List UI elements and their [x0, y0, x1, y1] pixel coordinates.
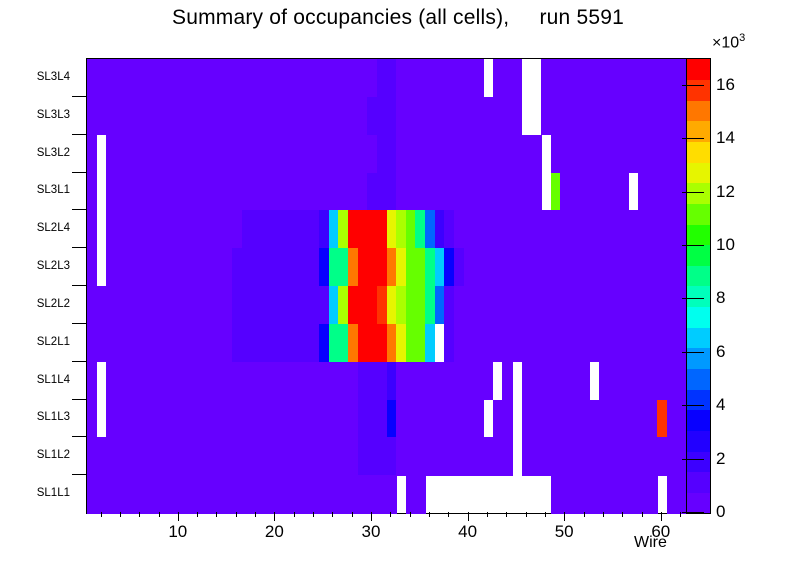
- colorbar-exponent: ×103: [712, 32, 745, 52]
- y-axis: SL3L4SL3L3SL3L2SL3L1SL2L4SL2L3SL2L2SL2L1…: [0, 58, 86, 512]
- y-axis-label: SL3L4: [37, 71, 70, 83]
- colorbar-tick: [682, 405, 704, 406]
- x-axis-tick: [429, 512, 430, 517]
- colorbar-tick-label: 12: [716, 182, 735, 202]
- colorbar-ticks: 0246810121416: [686, 58, 726, 512]
- y-axis-label: SL3L2: [37, 147, 70, 159]
- colorbar-tick-label: 16: [716, 75, 735, 95]
- x-axis-tick: [294, 512, 295, 517]
- heatmap-cell: [483, 362, 493, 400]
- x-axis-tick: [159, 512, 160, 517]
- x-axis-tick: [448, 512, 449, 517]
- heatmap-cell: [512, 97, 522, 135]
- x-axis-tick: [661, 512, 662, 521]
- y-axis-tick: [72, 209, 86, 210]
- colorbar-tick: [682, 298, 704, 299]
- x-axis-label: 30: [362, 522, 381, 542]
- x-axis-tick: [255, 512, 256, 517]
- colorbar-tick: [682, 85, 704, 86]
- y-axis-label: SL3L3: [37, 109, 70, 121]
- heatmap-cell: [415, 475, 425, 513]
- y-axis-tick: [72, 172, 86, 173]
- heatmap-cell: [87, 173, 97, 211]
- x-axis-tick: [526, 512, 527, 517]
- y-axis-tick: [72, 247, 86, 248]
- colorbar-tick: [682, 192, 704, 193]
- colorbar-tick: [682, 512, 704, 513]
- x-axis-tick: [274, 512, 275, 521]
- x-axis-tick: [120, 512, 121, 517]
- x-axis-tick: [487, 512, 488, 517]
- y-axis-tick: [72, 285, 86, 286]
- colorbar-tick-label: 14: [716, 128, 735, 148]
- heatmap-cell: [387, 475, 397, 513]
- y-axis-label: SL1L4: [37, 374, 70, 386]
- y-axis-tick: [72, 399, 86, 400]
- x-axis-tick: [197, 512, 198, 517]
- x-axis-tick: [101, 512, 102, 517]
- x-axis-tick: [390, 512, 391, 517]
- x-axis-tick: [468, 512, 469, 521]
- heatmap-cell: [87, 210, 97, 248]
- y-axis-tick: [72, 361, 86, 362]
- y-axis-tick: [72, 436, 86, 437]
- x-axis-tick: [642, 512, 643, 517]
- x-axis-tick: [139, 512, 140, 517]
- heatmap-cell: [87, 135, 97, 173]
- heatmap-cell: [618, 173, 628, 211]
- x-axis-tick: [178, 512, 179, 521]
- x-axis-tick: [603, 512, 604, 517]
- heatmap-cell: [502, 437, 512, 475]
- y-axis-label: SL2L2: [37, 298, 70, 310]
- chart-canvas: Summary of occupancies (all cells), run …: [0, 0, 796, 572]
- x-axis-tick: [216, 512, 217, 517]
- x-axis-label: 50: [555, 522, 574, 542]
- heatmap-cell: [87, 400, 97, 438]
- colorbar-tick-label: 0: [716, 502, 725, 522]
- x-axis-tick: [332, 512, 333, 517]
- y-axis-tick: [72, 134, 86, 135]
- heatmap-cell: [531, 173, 541, 211]
- heatmap-cell: [87, 248, 97, 286]
- y-axis-label: SL3L1: [37, 184, 70, 196]
- y-axis-tick: [72, 96, 86, 97]
- y-axis-label: SL2L3: [37, 260, 70, 272]
- colorbar-tick: [682, 138, 704, 139]
- x-axis-title: Wire: [634, 534, 667, 552]
- x-axis-tick: [545, 512, 546, 517]
- x-axis-tick: [622, 512, 623, 517]
- x-axis-label: 10: [168, 522, 187, 542]
- colorbar-tick: [682, 245, 704, 246]
- y-axis-label: SL1L3: [37, 411, 70, 423]
- y-axis-tick: [72, 474, 86, 475]
- x-axis: 102030405060: [86, 512, 686, 572]
- x-axis-label: 20: [265, 522, 284, 542]
- heatmap-cell: [473, 400, 483, 438]
- x-axis-tick: [352, 512, 353, 517]
- x-axis-label: 40: [458, 522, 477, 542]
- colorbar-tick-label: 8: [716, 288, 725, 308]
- y-axis-tick: [72, 323, 86, 324]
- heatmap-cell: [502, 400, 512, 438]
- heatmap-cell: [473, 59, 483, 97]
- x-axis-tick: [584, 512, 585, 517]
- colorbar-tick-label: 6: [716, 342, 725, 362]
- colorbar-tick: [682, 352, 704, 353]
- heatmap-plot-area[interactable]: [86, 58, 687, 514]
- y-axis-label: SL2L1: [37, 336, 70, 348]
- heatmap-cells: [87, 59, 686, 513]
- heatmap-cell: [502, 362, 512, 400]
- x-axis-tick: [371, 512, 372, 521]
- heatmap-cell: [580, 362, 590, 400]
- page-title: Summary of occupancies (all cells), run …: [0, 6, 796, 30]
- y-axis-label: SL2L4: [37, 222, 70, 234]
- x-axis-tick: [313, 512, 314, 517]
- x-axis-tick: [564, 512, 565, 521]
- heatmap-cell: [512, 59, 522, 97]
- y-axis-label: SL1L2: [37, 449, 70, 461]
- heatmap-cell: [425, 324, 435, 362]
- y-axis-label: SL1L1: [37, 487, 70, 499]
- x-axis-tick: [236, 512, 237, 517]
- colorbar-tick-label: 2: [716, 449, 725, 469]
- colorbar-tick: [682, 459, 704, 460]
- x-axis-tick: [410, 512, 411, 517]
- heatmap-cell: [647, 475, 657, 513]
- colorbar-tick-label: 10: [716, 235, 735, 255]
- x-axis-tick: [506, 512, 507, 517]
- colorbar-tick-label: 4: [716, 395, 725, 415]
- heatmap-cell: [531, 135, 541, 173]
- heatmap-cell: [87, 362, 97, 400]
